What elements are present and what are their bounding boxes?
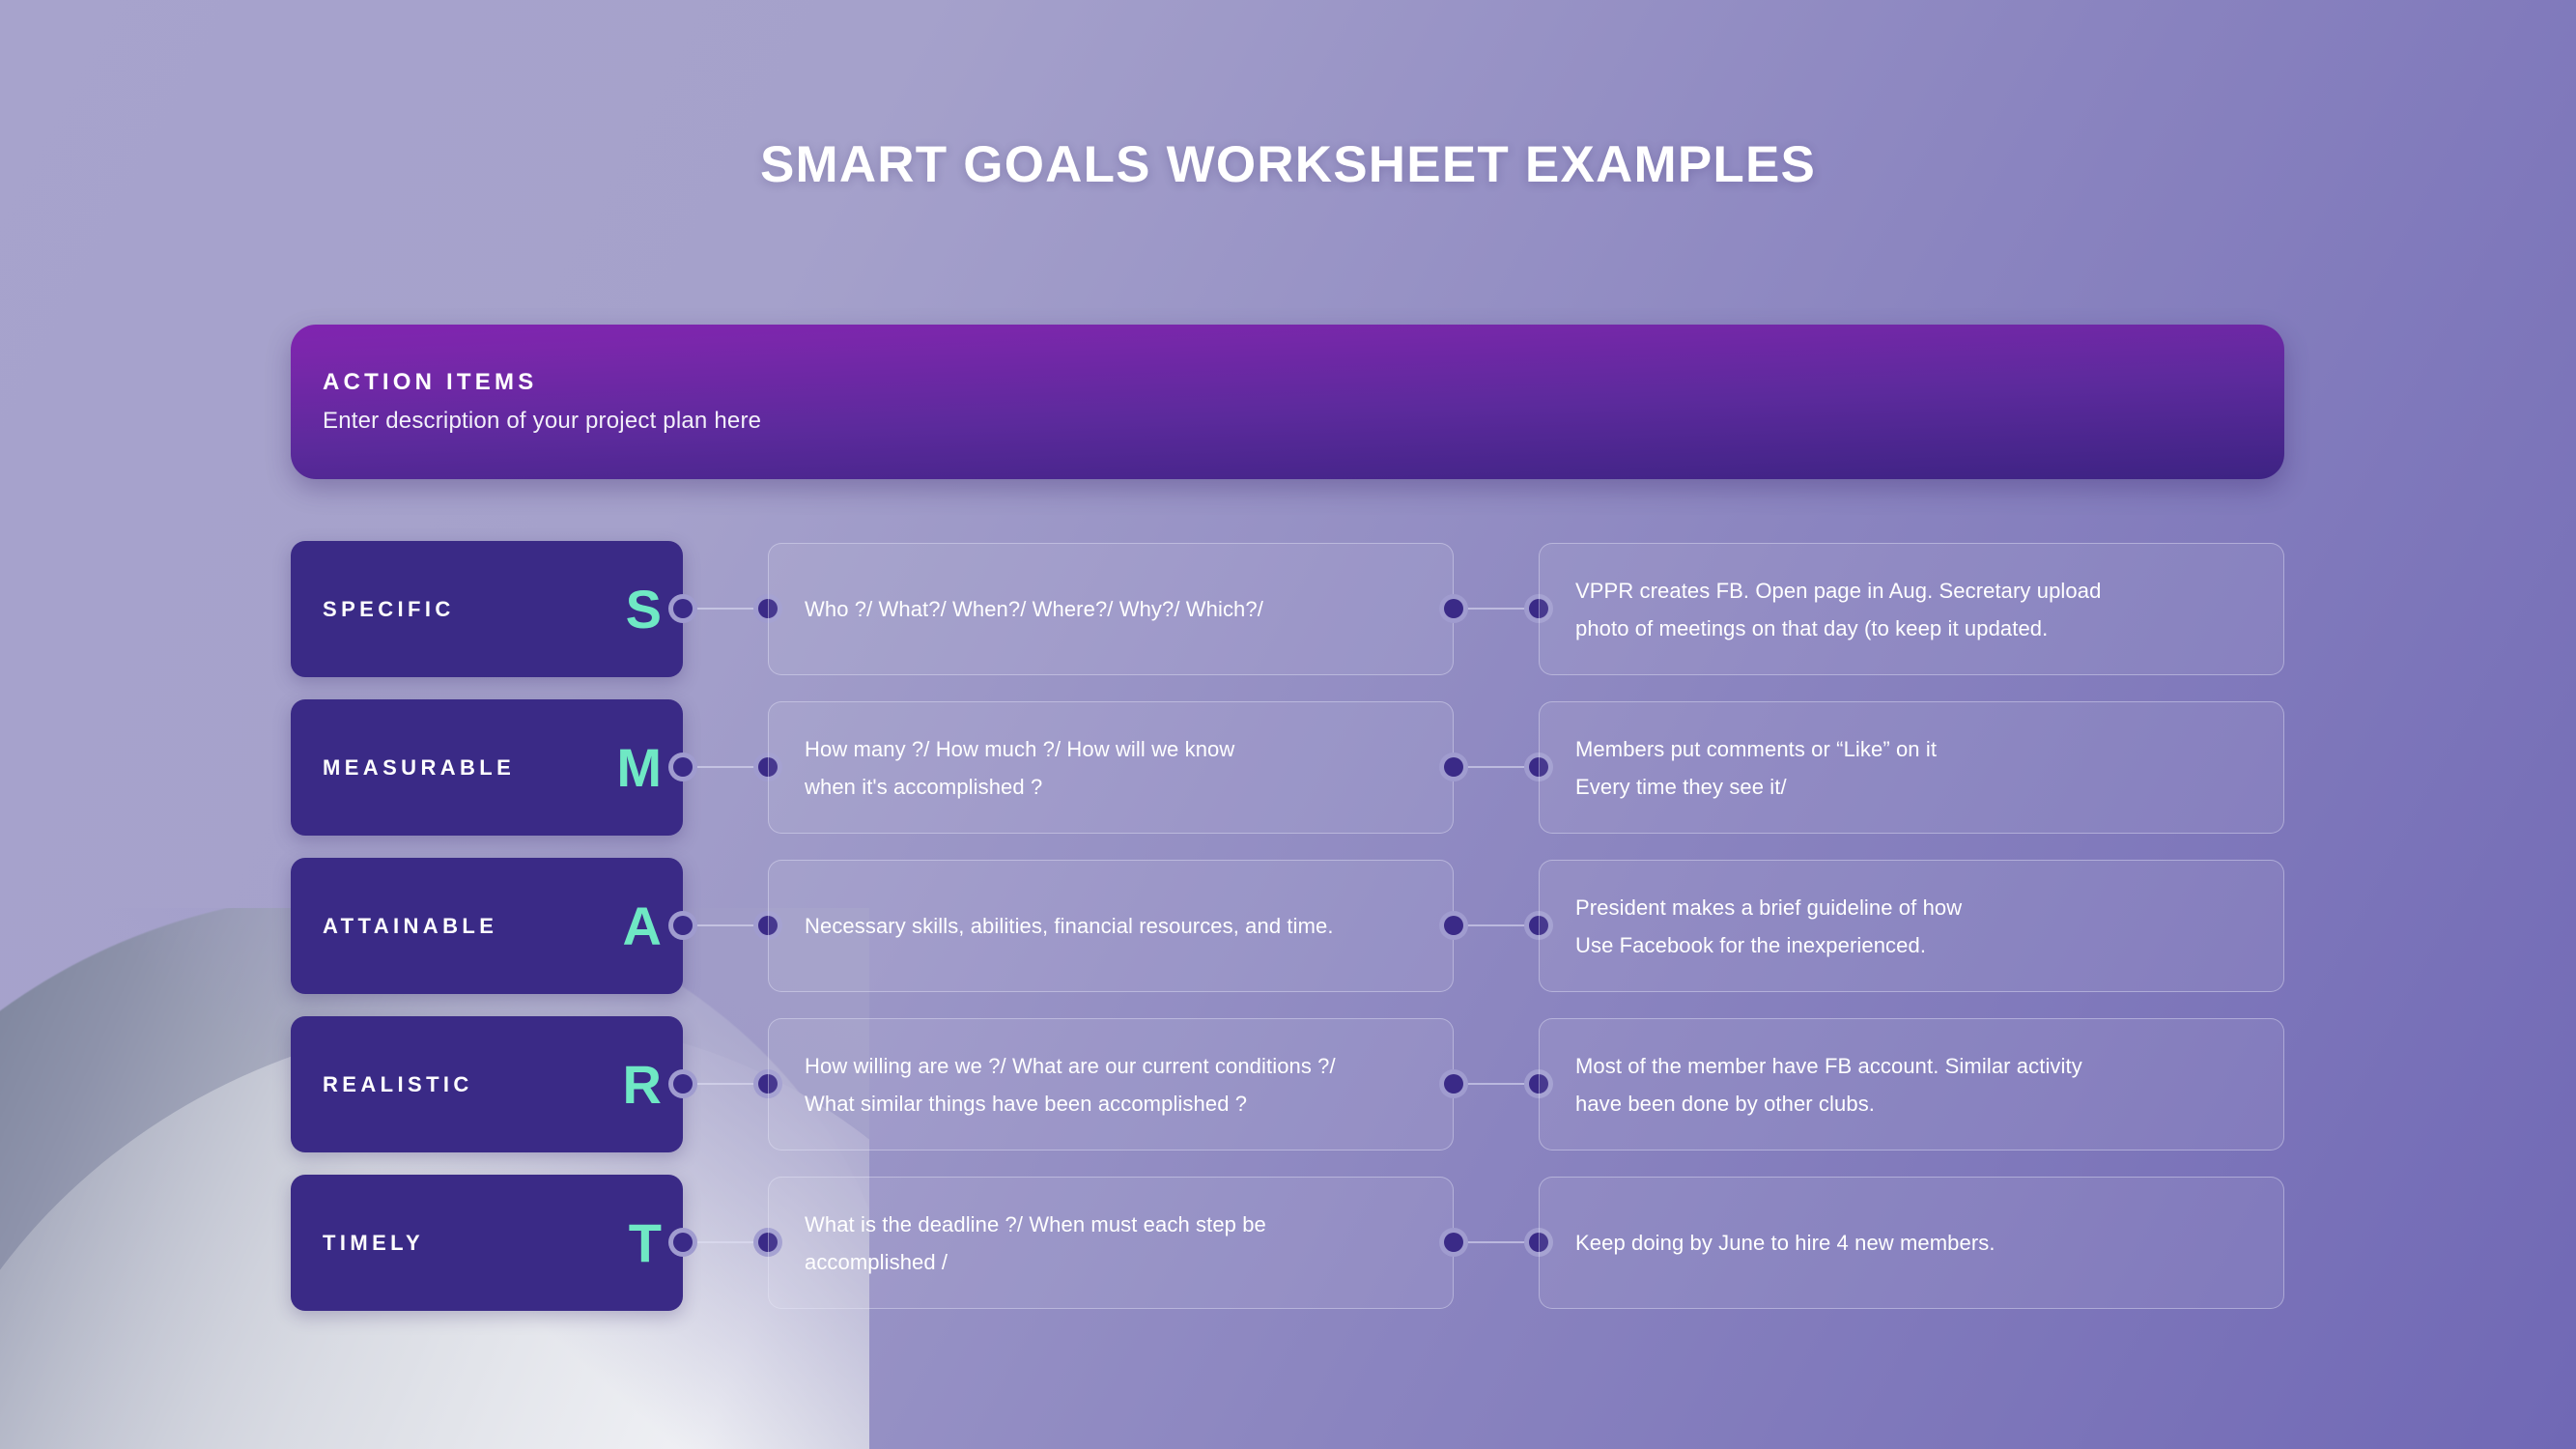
answer-box-specific[interactable]: VPPR creates FB. Open page in Aug. Secre… [1539, 543, 2284, 675]
connector-dot-card [668, 1228, 697, 1257]
label-card-attainable[interactable]: ATTAINABLE A [291, 858, 683, 994]
question-box-attainable[interactable]: Necessary skills, abilities, financial r… [768, 860, 1454, 992]
connector-dot-question-end [1439, 911, 1468, 940]
smart-row-attainable: ATTAINABLE A Necessary skills, abilities… [0, 858, 2576, 994]
answer-box-timely[interactable]: Keep doing by June to hire 4 new members… [1539, 1177, 2284, 1309]
question-box-realistic[interactable]: How willing are we ?/ What are our curre… [768, 1018, 1454, 1151]
question-text-realistic: How willing are we ?/ What are our curre… [769, 1047, 1336, 1122]
label-letter-attainable: A [623, 899, 662, 953]
answer-text-attainable: President makes a brief guideline of how… [1540, 889, 1962, 964]
question-text-measurable: How many ?/ How much ?/ How will we know… [769, 730, 1234, 806]
answer-text-specific: VPPR creates FB. Open page in Aug. Secre… [1540, 572, 2101, 647]
label-letter-measurable: M [616, 741, 662, 795]
action-items-heading: ACTION ITEMS [323, 369, 2252, 396]
label-text-measurable: MEASURABLE [323, 755, 515, 781]
label-text-specific: SPECIFIC [323, 597, 455, 622]
connector-dot-question-end [1439, 1069, 1468, 1098]
smart-row-realistic: REALISTIC R How willing are we ?/ What a… [0, 1016, 2576, 1152]
action-items-description: Enter description of your project plan h… [323, 408, 2252, 435]
label-card-measurable[interactable]: MEASURABLE M [291, 699, 683, 836]
answer-box-measurable[interactable]: Members put comments or “Like” on it Eve… [1539, 701, 2284, 834]
answer-box-attainable[interactable]: President makes a brief guideline of how… [1539, 860, 2284, 992]
connector-dot-card [668, 753, 697, 781]
connector-dot-card [668, 594, 697, 623]
answer-box-realistic[interactable]: Most of the member have FB account. Simi… [1539, 1018, 2284, 1151]
label-card-timely[interactable]: TIMELY T [291, 1175, 683, 1311]
label-text-timely: TIMELY [323, 1231, 424, 1256]
smart-row-specific: SPECIFIC S Who ?/ What?/ When?/ Where?/ … [0, 541, 2576, 677]
question-text-specific: Who ?/ What?/ When?/ Where?/ Why?/ Which… [769, 590, 1263, 628]
question-text-timely: What is the deadline ?/ When must each s… [769, 1206, 1266, 1281]
smart-rows: SPECIFIC S Who ?/ What?/ When?/ Where?/ … [0, 541, 2576, 1333]
label-card-specific[interactable]: SPECIFIC S [291, 541, 683, 677]
question-box-measurable[interactable]: How many ?/ How much ?/ How will we know… [768, 701, 1454, 834]
question-text-attainable: Necessary skills, abilities, financial r… [769, 907, 1334, 945]
page-title: SMART GOALS WORKSHEET EXAMPLES [0, 135, 2576, 194]
slide-canvas: SMART GOALS WORKSHEET EXAMPLES ACTION IT… [0, 0, 2576, 1449]
connector-dot-card [668, 911, 697, 940]
answer-text-realistic: Most of the member have FB account. Simi… [1540, 1047, 2082, 1122]
connector-dot-question-end [1439, 753, 1468, 781]
smart-row-timely: TIMELY T What is the deadline ?/ When mu… [0, 1175, 2576, 1311]
answer-text-measurable: Members put comments or “Like” on it Eve… [1540, 730, 1937, 806]
connector-dot-question-end [1439, 594, 1468, 623]
question-box-specific[interactable]: Who ?/ What?/ When?/ Where?/ Why?/ Which… [768, 543, 1454, 675]
label-text-attainable: ATTAINABLE [323, 914, 497, 939]
label-card-realistic[interactable]: REALISTIC R [291, 1016, 683, 1152]
label-letter-specific: S [626, 582, 662, 637]
question-box-timely[interactable]: What is the deadline ?/ When must each s… [768, 1177, 1454, 1309]
connector-dot-question-end [1439, 1228, 1468, 1257]
label-text-realistic: REALISTIC [323, 1072, 473, 1097]
action-items-banner: ACTION ITEMS Enter description of your p… [291, 325, 2284, 479]
label-letter-realistic: R [623, 1058, 662, 1112]
answer-text-timely: Keep doing by June to hire 4 new members… [1540, 1224, 1996, 1262]
connector-dot-card [668, 1069, 697, 1098]
smart-row-measurable: MEASURABLE M How many ?/ How much ?/ How… [0, 699, 2576, 836]
label-letter-timely: T [629, 1216, 662, 1270]
